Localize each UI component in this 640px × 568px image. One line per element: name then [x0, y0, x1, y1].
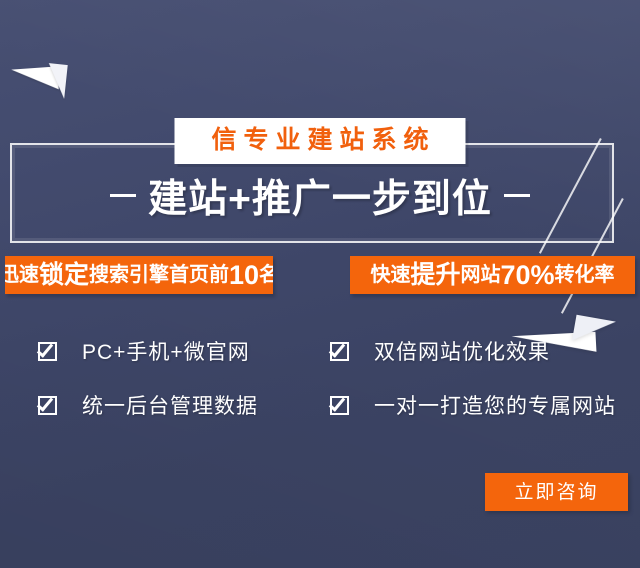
- highlight-strip-right: 快速 提升 网站 70% 转化率: [350, 256, 635, 294]
- strip-part: 搜索引擎首页前: [89, 265, 229, 285]
- feature-label: PC+手机+微官网: [82, 336, 250, 366]
- checkbox-checked-icon: [38, 394, 60, 416]
- paper-plane-wing-right: [45, 63, 67, 99]
- feature-label: 统一后台管理数据: [82, 390, 258, 420]
- feature-label: 一对一打造您的专属网站: [374, 390, 616, 420]
- consult-now-button[interactable]: 立即咨询: [485, 473, 628, 511]
- paper-plane-wing-right: [572, 315, 616, 348]
- strip-part: 转化率: [555, 265, 615, 285]
- highlight-strip-left: 迅速 锁定 搜索引擎首页前 10 名: [5, 256, 273, 294]
- paper-plane-icon: [12, 60, 82, 120]
- checkbox-checked-icon: [330, 394, 352, 416]
- strip-part: 迅速: [5, 265, 39, 285]
- strip-part-number: 70%: [500, 262, 554, 289]
- feature-item-4: 一对一打造您的专属网站: [330, 390, 616, 420]
- strip-part: 提升: [410, 263, 460, 288]
- checkbox-checked-icon: [330, 340, 352, 362]
- feature-label: 双倍网站优化效果: [374, 336, 550, 366]
- strip-part: 快速: [370, 265, 410, 285]
- feature-item-3: 统一后台管理数据: [38, 390, 258, 420]
- strip-part: 网站: [460, 265, 500, 285]
- feature-item-1: PC+手机+微官网: [38, 336, 250, 366]
- headline-dash-left: [110, 194, 136, 197]
- paper-plane-wing-left: [11, 66, 58, 92]
- subtitle-badge: 信专业建站系统: [174, 118, 465, 164]
- feature-item-2: 双倍网站优化效果: [330, 336, 550, 366]
- headline-text: 建站+推广一步到位: [148, 178, 492, 221]
- strip-part: 名: [259, 265, 273, 285]
- strip-part-number: 10: [229, 262, 259, 289]
- strip-part: 锁定: [39, 263, 89, 288]
- checkbox-checked-icon: [38, 340, 60, 362]
- page-title: 建站+推广一步到位: [0, 178, 640, 219]
- promo-banner: 信专业建站系统 建站+推广一步到位 迅速 锁定 搜索引擎首页前 10 名 快速 …: [0, 0, 640, 568]
- headline-dash-right: [504, 194, 530, 197]
